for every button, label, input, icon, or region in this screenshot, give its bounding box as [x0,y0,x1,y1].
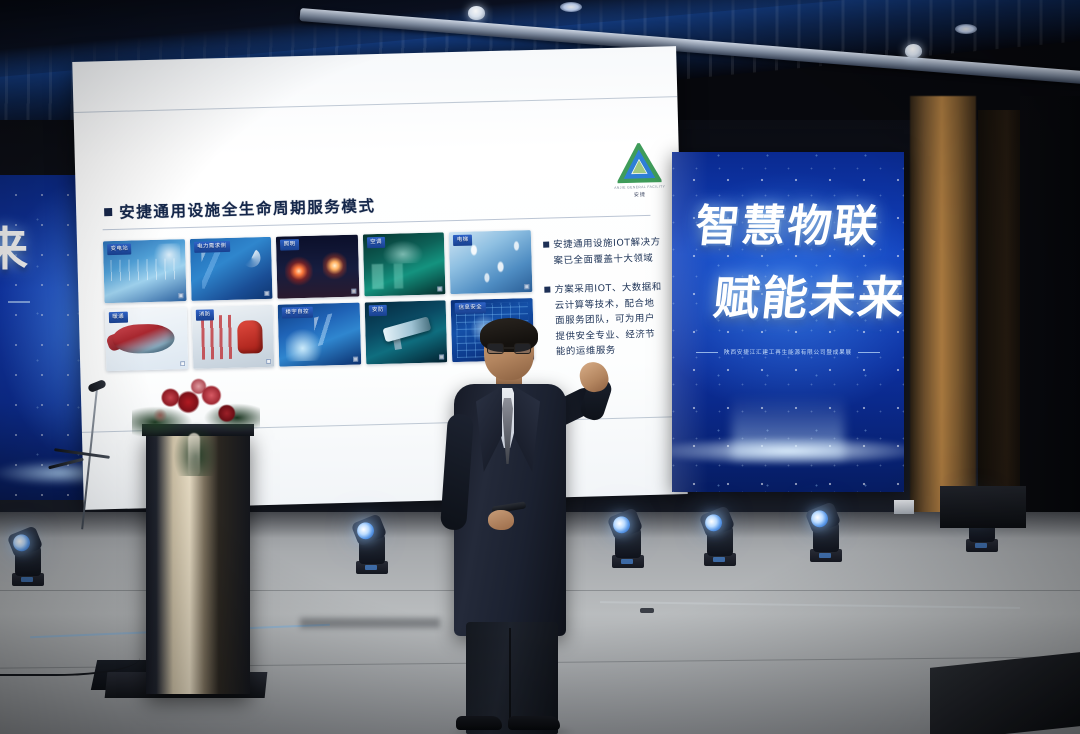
truss-lamp-icon [905,44,922,58]
person-leg-seam [509,628,511,728]
led-left-glow [0,460,96,486]
logo-caption-cn: 安捷 [634,191,646,198]
wall-recess [978,110,1026,542]
glasses-lens-right [514,343,531,354]
subtitle-rule-left [696,352,718,353]
led-screen-main: 智慧物联 赋能未来 陕西安捷江汇建工再生能源有限公司暨成果展 [672,152,904,492]
bullet-square-icon [543,242,549,248]
grid-cell-label: 电力需求侧 [194,241,231,253]
led-left-tail-character: 来 [0,213,27,279]
slide-title: 安捷通用设施全生命周期服务模式 [104,194,376,223]
grid-cell-corner [438,286,443,291]
grid-cell-label: 安防 [369,305,388,316]
grid-cell-corner [524,284,529,289]
wall-wood-pillar [910,96,976,542]
logo-caption-en: ANJIE GENERAL FACILITY [614,185,665,190]
triangle-logo-icon [617,143,662,184]
led-left-divider [8,301,30,303]
wall-dark-edge [1020,96,1080,546]
grid-cell-label: 空调 [367,237,386,248]
floral-drape [188,433,200,477]
stage-light [608,512,648,568]
light-lens-icon [703,512,725,534]
floor-marking-tape [600,601,1020,609]
slide-bullet: 安捷通用设施IOT解决方案已全面覆盖十大领域 [543,235,662,269]
subtitle-rule-right [858,352,880,353]
led-subtitle-text: 陕西安捷江汇建工再生能源有限公司暨成果展 [724,348,852,356]
grid-cell-corner [266,359,271,364]
grid-cell-label: 电梯 [453,235,472,246]
slide-grid-cell: 空调 [363,232,446,296]
glasses-bridge [504,347,514,349]
bullet-square-icon [544,287,550,293]
floor-scuff [300,618,440,628]
slide-rule-top [74,96,678,113]
slide-grid-cell: 消防 [191,305,274,369]
light-lens-icon [809,508,831,530]
slide-logo: ANJIE GENERAL FACILITY 安捷 [613,143,667,206]
ceiling-spot-icon [955,24,977,34]
speaker-person [432,322,610,722]
stage-light [700,510,740,566]
grid-cell-corner [351,289,356,294]
slide-grid-cell: 照明 [276,235,359,299]
bullet-square-icon [104,208,112,216]
slide-grid-cell: 电梯 [449,230,532,294]
led-headline-line1: 智慧物联 [672,190,904,254]
led-subtitle: 陕西安捷江汇建工再生能源有限公司暨成果展 [672,348,904,356]
person-left-hand [488,510,514,530]
light-lens-icon [611,514,633,536]
bullet-text: 安捷通用设施IOT解决方案已全面覆盖十大领域 [553,235,662,269]
grid-cell-label: 信息安全 [455,302,486,313]
slide-title-text: 安捷通用设施全生命周期服务模式 [119,194,376,223]
grid-cell-corner [264,291,269,296]
led-headline-line2: 赋能未来 [691,262,904,328]
grid-cell-corner [178,293,183,298]
grid-cell-label: 暖通 [109,312,128,323]
person-shoe [456,716,502,730]
slide-grid-cell: 变电站 [103,239,186,303]
led-horizon-glow [672,436,904,466]
grid-cell-label: 变电站 [107,243,132,254]
slide-grid-cell: 电力需求侧 [190,237,273,301]
slide-grid-cell: 暖通 [105,307,188,371]
light-lens-icon [11,532,33,554]
slide-grid-cell: 楼宇自控 [278,303,361,367]
grid-cell-label: 照明 [280,239,299,250]
floral-arrangement [132,364,260,476]
person-shoe [508,716,560,730]
glasses-lens-left [487,343,504,354]
eyeglasses-icon [487,343,531,354]
grid-cell-label: 消防 [195,309,214,320]
grid-cell-label: 楼宇自控 [282,307,313,318]
stage-light [352,518,392,574]
stage-light [8,530,48,586]
ceiling-spot-icon [560,2,582,12]
stage-small-object [894,500,914,514]
truss-lamp-icon [468,6,485,20]
floor-object [640,608,654,613]
stage-equipment-case [940,486,1026,528]
light-lens-icon [355,520,377,542]
grid-cell-corner [353,357,358,362]
stage-light [806,506,846,562]
stage-scene: 来 ANJIE GENERAL FACILITY 安捷 安捷通用设施全生命周期服… [0,0,1080,734]
